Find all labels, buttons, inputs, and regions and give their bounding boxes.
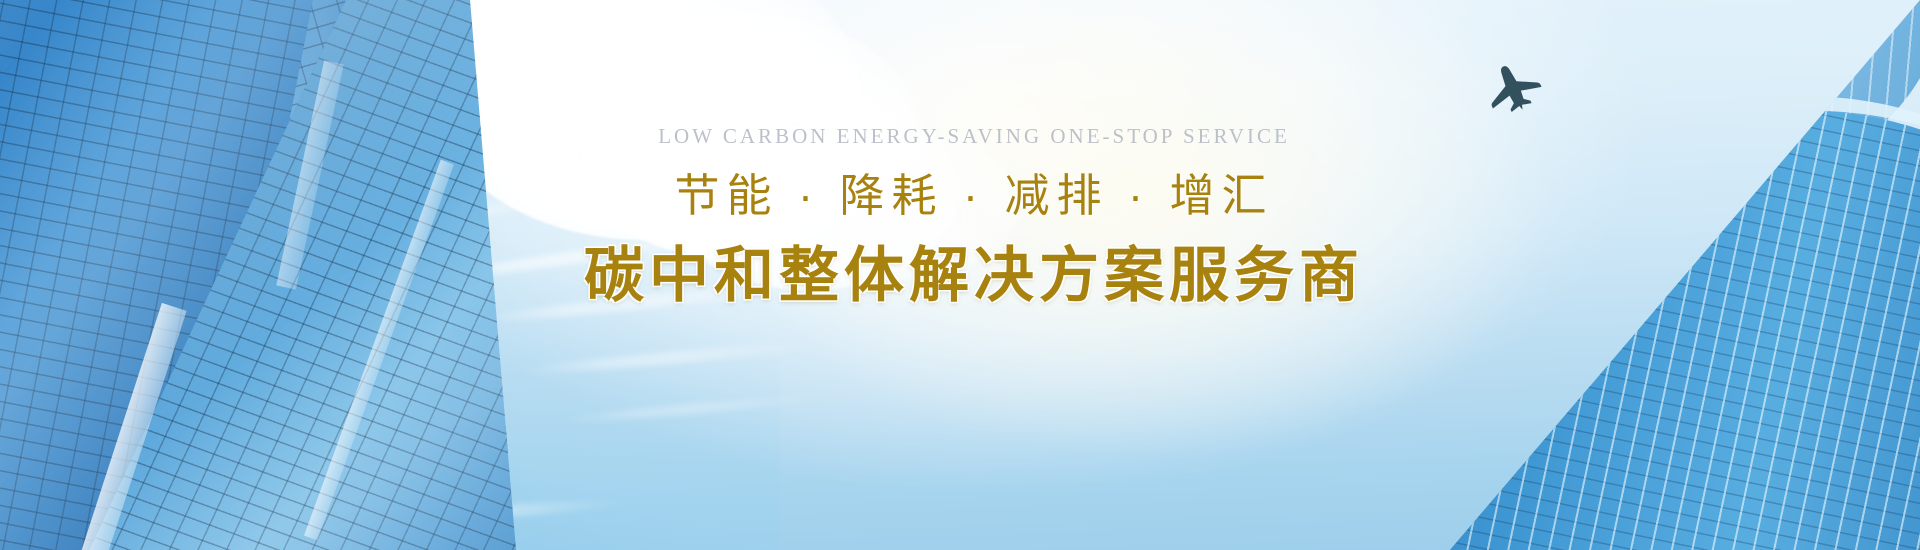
banner-headline: 碳中和整体解决方案服务商 xyxy=(28,246,1920,306)
banner-eyebrow-text: LOW CARBON ENERGY-SAVING ONE-STOP SERVIC… xyxy=(28,126,1920,147)
banner-subheadline: 节能 · 降耗 · 减排 · 增汇 xyxy=(28,173,1920,218)
cirrus-cloud-icon xyxy=(520,339,820,377)
airplane-icon xyxy=(1473,49,1554,126)
cirrus-cloud-icon xyxy=(560,393,820,426)
building-mullion xyxy=(75,303,186,550)
hero-banner: LOW CARBON ENERGY-SAVING ONE-STOP SERVIC… xyxy=(0,0,1920,550)
banner-copy: LOW CARBON ENERGY-SAVING ONE-STOP SERVIC… xyxy=(0,126,1920,306)
